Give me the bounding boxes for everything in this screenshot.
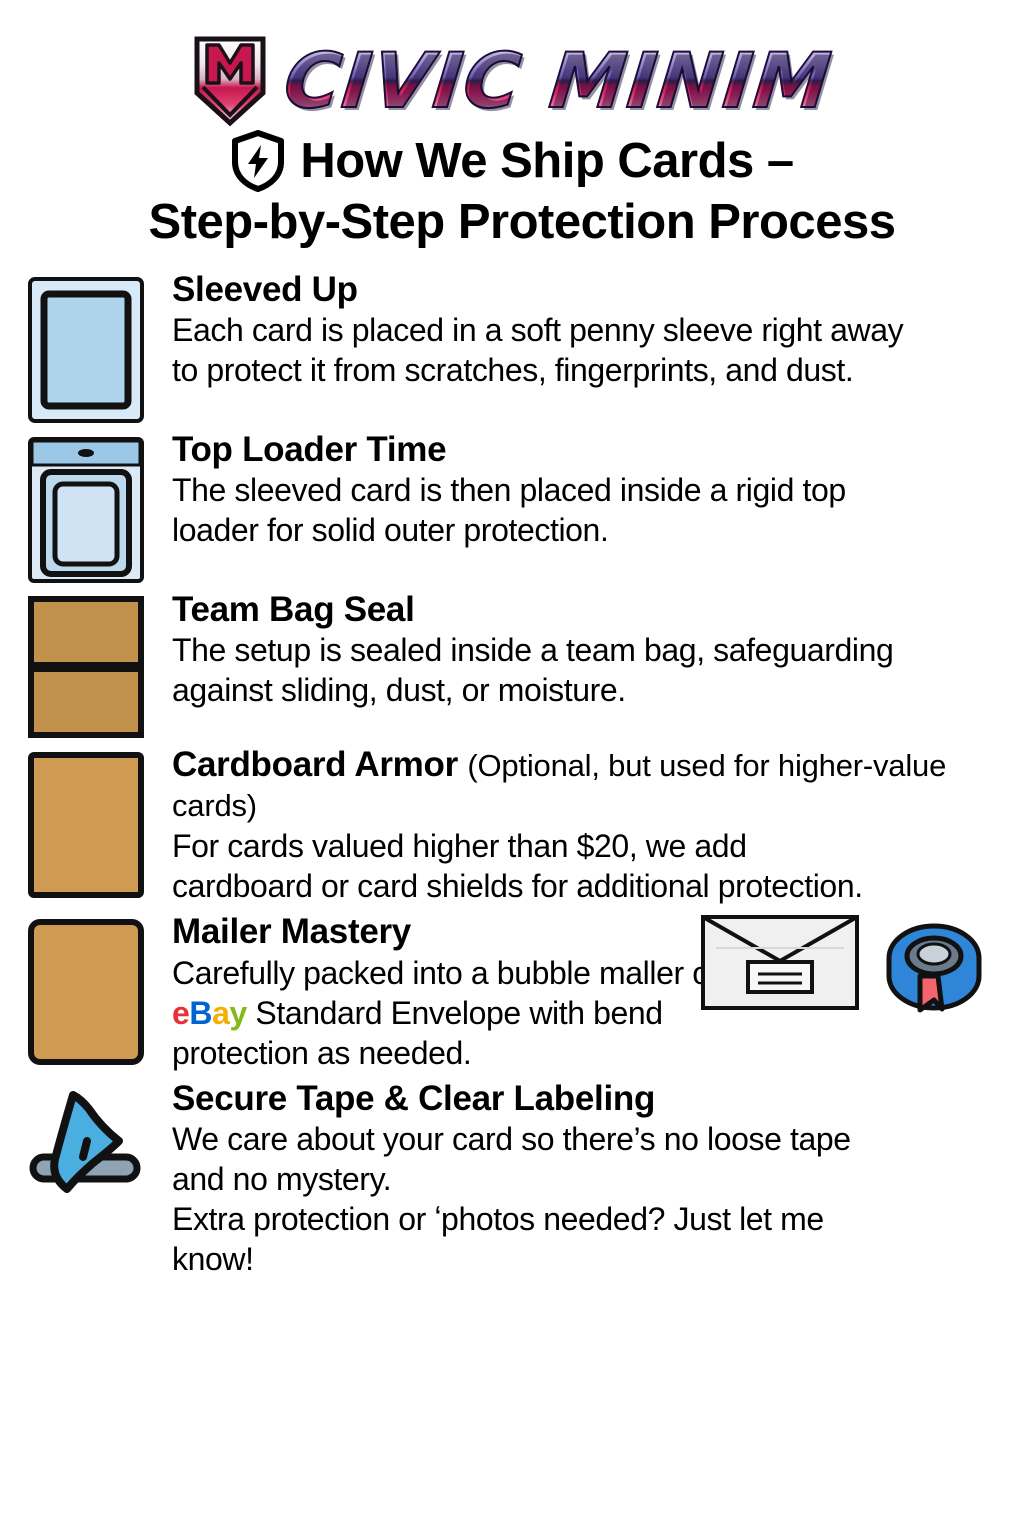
step-text-cell: Team Bag Seal The setup is sealed inside…	[172, 590, 1002, 711]
step-title: Secure Tape & Clear Labeling	[172, 1079, 1002, 1120]
step-title: Sleeved Up	[172, 270, 1002, 311]
step-description-line: For cards valued higher than $20, we add	[172, 826, 1002, 866]
step-item-secure-tape: Secure Tape & Clear Labeling We care abo…	[22, 1079, 1002, 1280]
desc-pre-ebay: Carefully packed into a bubble maller or…	[172, 955, 763, 991]
page-title-line-1: How We Ship Cards –	[300, 134, 793, 189]
step-description-line: Each card is placed in a soft penny slee…	[172, 310, 1002, 350]
step-item-mailer-mastery: Mailer Mastery Carefully packed into a b…	[22, 912, 1002, 1073]
title-line-one-row: How We Ship Cards –	[40, 130, 984, 192]
step-description-line: Extra protection or ʻphotos needed? Just…	[172, 1199, 1002, 1239]
step-text-cell: Sleeved Up Each card is placed in a soft…	[172, 270, 1002, 391]
steps-list: Sleeved Up Each card is placed in a soft…	[0, 252, 1024, 1279]
mailer-extra-icons	[700, 914, 984, 1014]
civic-minim-m-shield-icon	[193, 35, 267, 127]
step-item-top-loader: Top Loader Time The sleeved card is then…	[22, 430, 1002, 584]
step-text-cell: Top Loader Time The sleeved card is then…	[172, 430, 1002, 551]
step-description-line: loader for solid outer protection.	[172, 510, 1002, 550]
step-description-line: We care about your card so there’s no lo…	[172, 1119, 1002, 1159]
top-loader-icon	[27, 436, 145, 584]
step-description-line: and no mystery.	[172, 1159, 1002, 1199]
step-icon-cell	[22, 745, 150, 899]
cardboard-shield-icon	[27, 751, 145, 899]
tape-dispenser-icon	[27, 1085, 145, 1203]
step-item-sleeved-up: Sleeved Up Each card is placed in a soft…	[22, 270, 1002, 424]
step-description-line: against sliding, dust, or moisture.	[172, 670, 1002, 710]
penny-sleeve-icon	[27, 276, 145, 424]
ebay-letter-e: e	[172, 995, 189, 1031]
step-title: Top Loader Time	[172, 430, 1002, 471]
tape-roll-icon	[876, 914, 984, 1014]
ebay-letter-y: y	[230, 995, 247, 1031]
step-description-mailer: Carefully packed into a bubble maller or…	[172, 953, 772, 1073]
brand-wordmark: CIVIC MINIM	[281, 43, 836, 119]
step-title: Team Bag Seal	[172, 590, 1002, 631]
step-description-line: to protect it from scratches, fingerprin…	[172, 350, 1002, 390]
step-icon-cell	[22, 590, 150, 739]
page-title-line-2: Step-by-Step Protection Process	[40, 194, 984, 252]
step-title: Cardboard Armor (Optional, but used for …	[172, 745, 1002, 826]
step-description-line: The setup is sealed inside a team bag, s…	[172, 630, 1002, 670]
brand-logo-bar: CIVIC MINIM	[0, 0, 1024, 118]
step-icon-cell	[22, 1079, 150, 1203]
step-item-team-bag: Team Bag Seal The setup is sealed inside…	[22, 590, 1002, 739]
step-icon-cell	[22, 270, 150, 424]
step-description-line: The sleeved card is then placed inside a…	[172, 470, 1002, 510]
step-icon-cell	[22, 430, 150, 584]
step-icon-cell	[22, 912, 150, 1066]
step-text-cell: Secure Tape & Clear Labeling We care abo…	[172, 1079, 1002, 1280]
infographic-page: CIVIC MINIM How We Ship Cards – Step-by-…	[0, 0, 1024, 1536]
step-item-cardboard-armor: Cardboard Armor (Optional, but used for …	[22, 745, 1002, 906]
bubble-mailer-icon	[27, 918, 145, 1066]
step-description-line: cardboard or card shields for additional…	[172, 866, 1002, 906]
step-title-main: Cardboard Armor	[172, 745, 458, 784]
shield-bolt-icon	[230, 130, 286, 192]
team-bag-icon	[27, 596, 145, 739]
envelope-icon	[700, 914, 860, 1011]
step-text-cell: Cardboard Armor (Optional, but used for …	[172, 745, 1002, 906]
page-title-block: How We Ship Cards – Step-by-Step Protect…	[0, 118, 1024, 252]
step-description-line: know!	[172, 1239, 1002, 1279]
ebay-letter-b: B	[189, 995, 212, 1031]
ebay-letter-a: a	[212, 995, 229, 1031]
